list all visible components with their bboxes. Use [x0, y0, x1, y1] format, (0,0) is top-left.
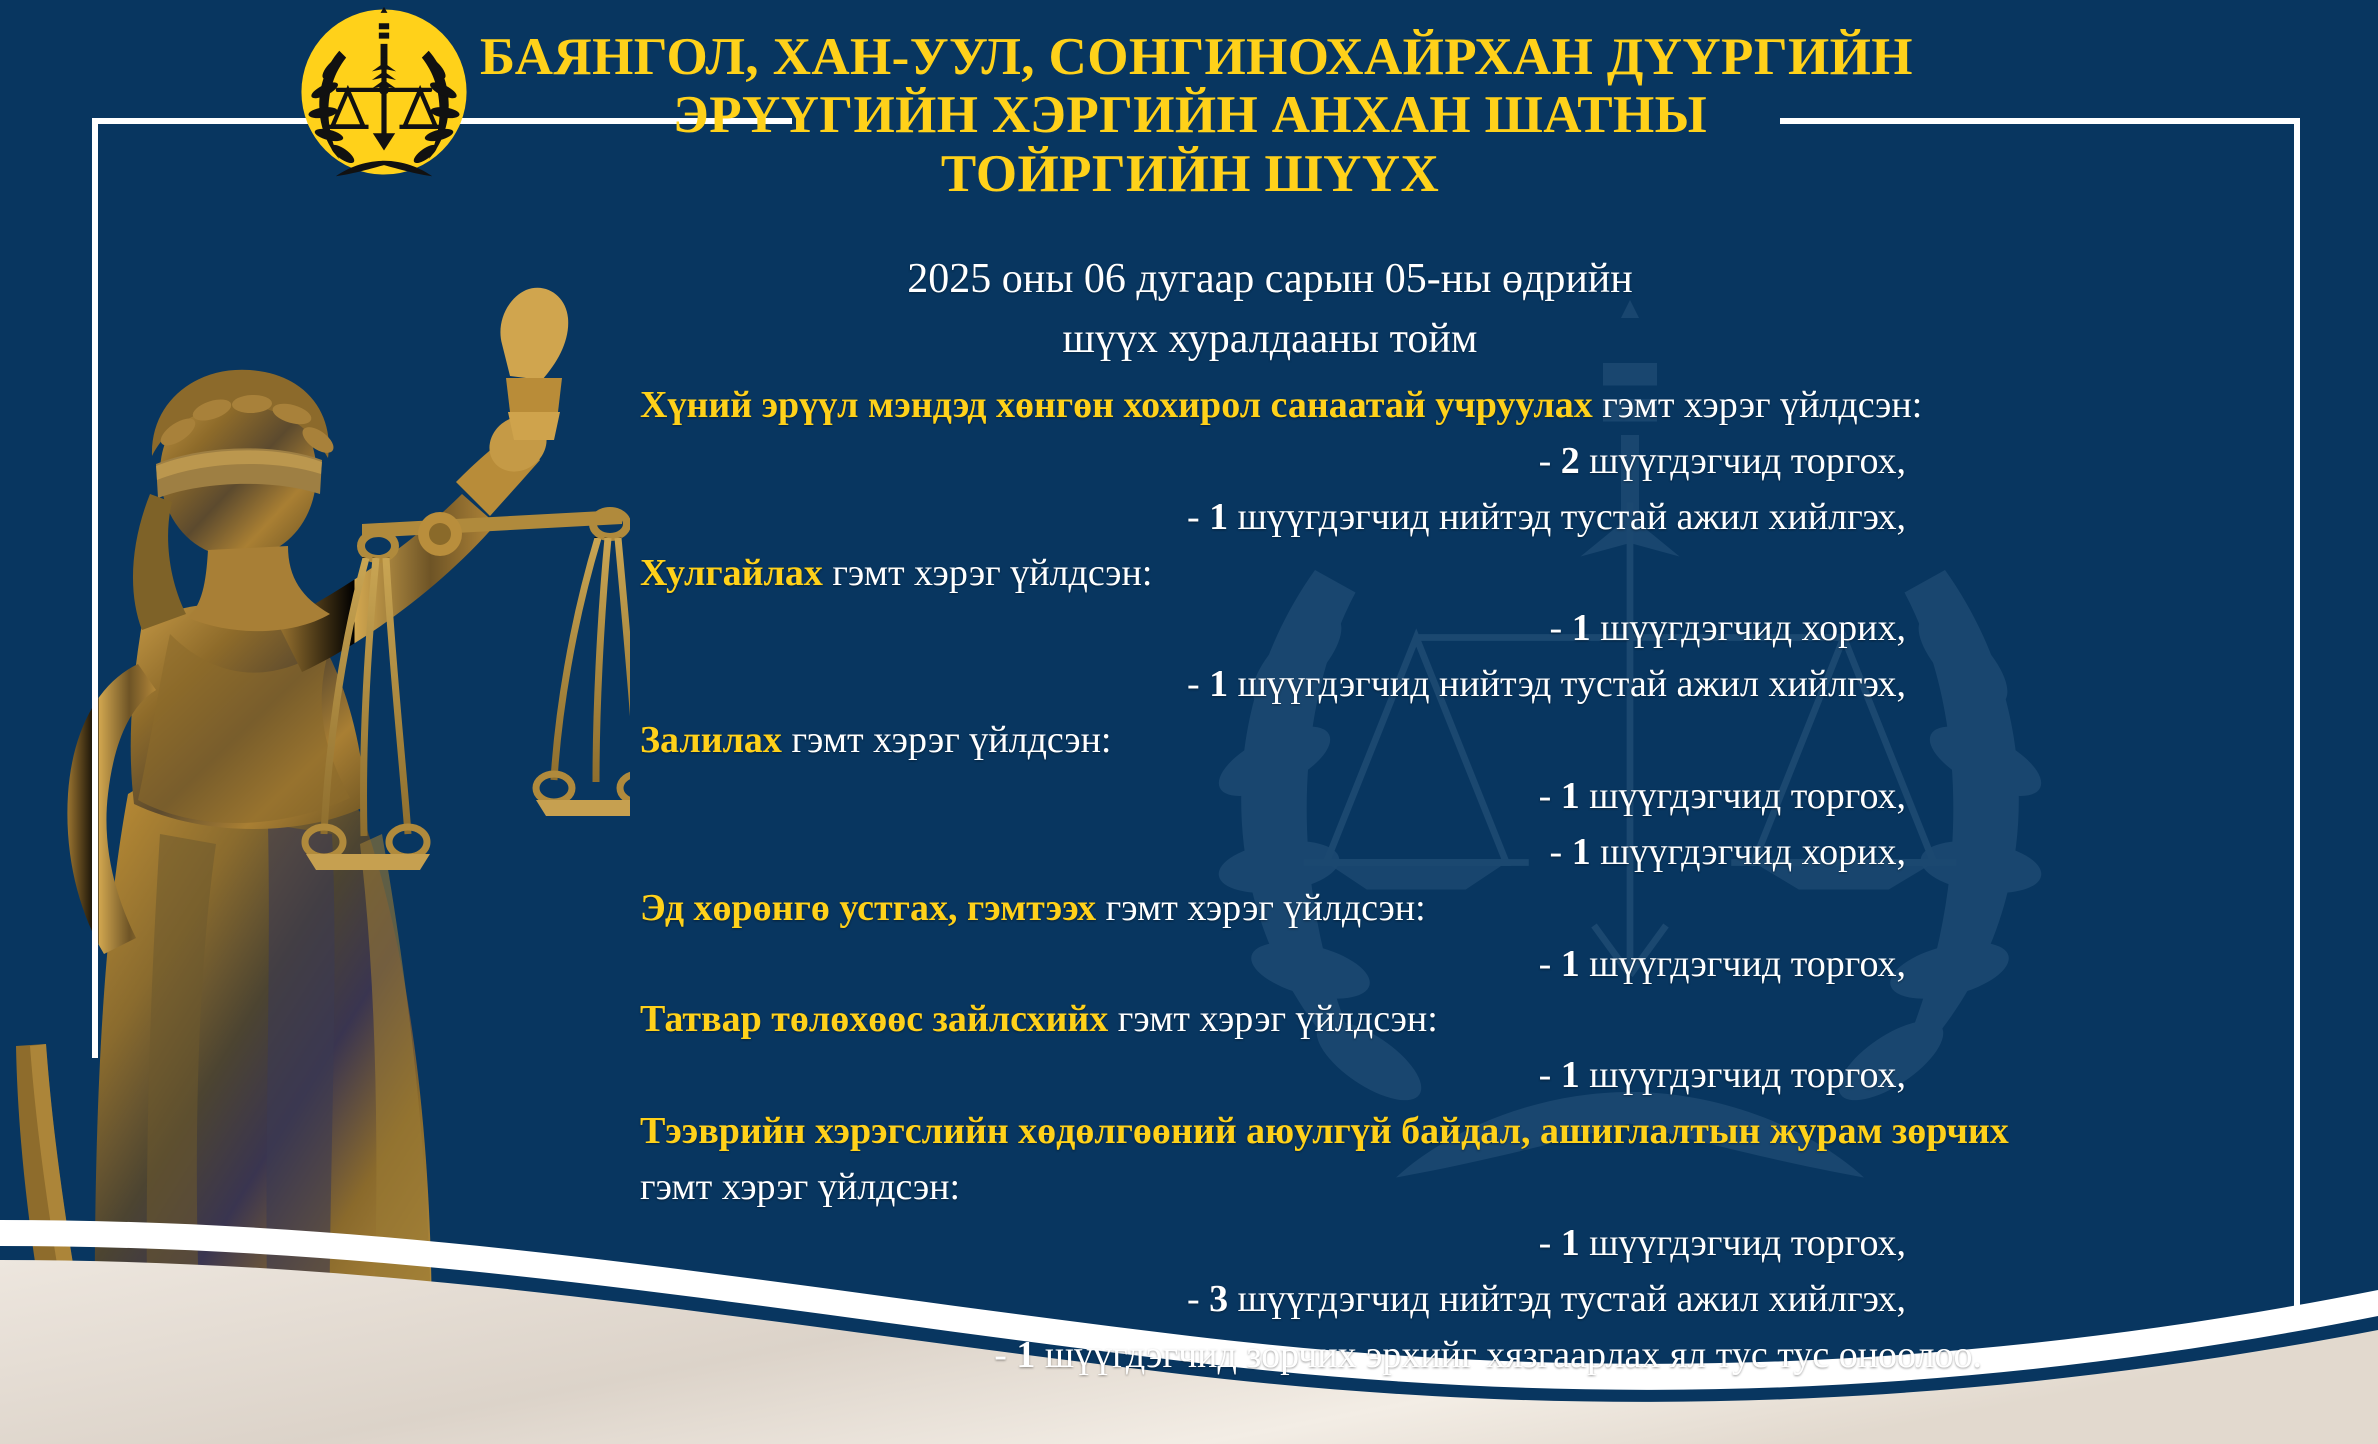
sentence-text: шүүгдэгчид нийтэд тустай ажил хийлгэх,	[1238, 663, 1906, 705]
crime-suffix: гэмт хэрэг үйлдсэн:	[782, 719, 1112, 761]
defendant-count: 2	[1561, 440, 1580, 482]
crime-name: Залилах	[640, 719, 782, 761]
sentence-text: шүүгдэгчид зорчих эрхийг хязгаарлах ял т…	[1045, 1334, 1982, 1376]
defendant-count: 1	[1209, 496, 1228, 538]
session-date-line-2: шүүх хуралдааны тойм	[640, 310, 1900, 370]
sentence-item: - 1 шүүгдэгчид хорих,	[640, 601, 2040, 657]
crime-name: Хүний эрүүл мэндэд хөнгөн хохирол санаат…	[640, 384, 1593, 426]
sentence-text: шүүгдэгчид хорих,	[1600, 607, 1906, 649]
poster-canvas: БАЯНГОЛ, ХАН-УУЛ, СОНГИНОХАЙРХАН ДҮҮРГИЙ…	[0, 0, 2378, 1444]
defendant-count: 1	[1016, 1334, 1035, 1376]
frame-left-rule	[92, 118, 98, 1058]
sentence-text: шүүгдэгчид торгох,	[1589, 1222, 1906, 1264]
crime-suffix: гэмт хэрэг үйлдсэн:	[1108, 998, 1438, 1040]
lady-justice-statue	[10, 194, 630, 1444]
session-date-block: 2025 оны 06 дугаар сарын 05-ны өдрийн шү…	[640, 250, 1900, 369]
sentence-item: - 1 шүүгдэгчид торгох,	[640, 1048, 2040, 1104]
title-line-2: ЭРҮҮГИЙН ХЭРГИЙН АНХАН ШАТНЫ	[480, 86, 1900, 144]
sentence-item: - 1 шүүгдэгчид нийтэд тустай ажил хийлгэ…	[640, 657, 2040, 713]
frame-right-rule	[2294, 118, 2300, 1318]
verdict-summary-list: Хүний эрүүл мэндэд хөнгөн хохирол санаат…	[640, 378, 2040, 1383]
sentence-text: шүүгдэгчид торгох,	[1589, 943, 1906, 985]
crime-heading: Эд хөрөнгө устгах, гэмтээх гэмт хэрэг үй…	[640, 881, 2040, 937]
defendant-count: 1	[1572, 607, 1591, 649]
crime-heading: Хулгайлах гэмт хэрэг үйлдсэн:	[640, 546, 2040, 602]
session-date-line-1: 2025 оны 06 дугаар сарын 05-ны өдрийн	[640, 250, 1900, 310]
sentence-item: - 2 шүүгдэгчид торгох,	[640, 434, 2040, 490]
sentence-text: шүүгдэгчид торгох,	[1589, 775, 1906, 817]
sentence-item: - 1 шүүгдэгчид зорчих эрхийг хязгаарлах …	[640, 1328, 2040, 1384]
defendant-count: 1	[1561, 1054, 1580, 1096]
court-emblem-icon	[298, 6, 470, 178]
crime-suffix: гэмт хэрэг үйлдсэн:	[1593, 384, 1923, 426]
sentence-text: шүүгдэгчид нийтэд тустай ажил хийлгэх,	[1238, 1278, 1906, 1320]
defendant-count: 1	[1209, 663, 1228, 705]
crime-suffix: гэмт хэрэг үйлдсэн:	[1096, 887, 1426, 929]
title-line-3: ТОЙРГИЙН ШҮҮХ	[480, 145, 1900, 203]
sentence-text: шүүгдэгчид торгох,	[1589, 440, 1906, 482]
crime-suffix: гэмт хэрэг үйлдсэн:	[640, 1166, 960, 1208]
crime-heading: Татвар төлөхөөс зайлсхийх гэмт хэрэг үйл…	[640, 992, 2040, 1048]
sentence-item: - 1 шүүгдэгчид торгох,	[640, 1216, 2040, 1272]
sentence-item: - 1 шүүгдэгчид торгох,	[640, 937, 2040, 993]
crime-name: Эд хөрөнгө устгах, гэмтээх	[640, 887, 1096, 929]
defendant-count: 1	[1561, 943, 1580, 985]
crime-heading: Хүний эрүүл мэндэд хөнгөн хохирол санаат…	[640, 378, 2040, 434]
defendant-count: 1	[1561, 775, 1580, 817]
sentence-text: шүүгдэгчид нийтэд тустай ажил хийлгэх,	[1238, 496, 1906, 538]
sentence-text: шүүгдэгчид хорих,	[1600, 831, 1906, 873]
crime-suffix: гэмт хэрэг үйлдсэн:	[823, 552, 1153, 594]
sentence-item: - 1 шүүгдэгчид хорих,	[640, 825, 2040, 881]
crime-heading: Тээврийн хэрэгслийн хөдөлгөөний аюулгүй …	[640, 1104, 2040, 1216]
title-line-1: БАЯНГОЛ, ХАН-УУЛ, СОНГИНОХАЙРХАН ДҮҮРГИЙ…	[480, 28, 1900, 86]
crime-name: Хулгайлах	[640, 552, 823, 594]
sentence-item: - 1 шүүгдэгчид нийтэд тустай ажил хийлгэ…	[640, 490, 2040, 546]
defendant-count: 1	[1561, 1222, 1580, 1264]
crime-name: Татвар төлөхөөс зайлсхийх	[640, 998, 1108, 1040]
sentence-item: - 3 шүүгдэгчид нийтэд тустай ажил хийлгэ…	[640, 1272, 2040, 1328]
defendant-count: 1	[1572, 831, 1591, 873]
sentence-text: шүүгдэгчид торгох,	[1589, 1054, 1906, 1096]
page-title: БАЯНГОЛ, ХАН-УУЛ, СОНГИНОХАЙРХАН ДҮҮРГИЙ…	[480, 28, 1900, 203]
crime-name: Тээврийн хэрэгслийн хөдөлгөөний аюулгүй …	[640, 1110, 2009, 1152]
sentence-item: - 1 шүүгдэгчид торгох,	[640, 769, 2040, 825]
crime-heading: Залилах гэмт хэрэг үйлдсэн:	[640, 713, 2040, 769]
defendant-count: 3	[1209, 1278, 1228, 1320]
